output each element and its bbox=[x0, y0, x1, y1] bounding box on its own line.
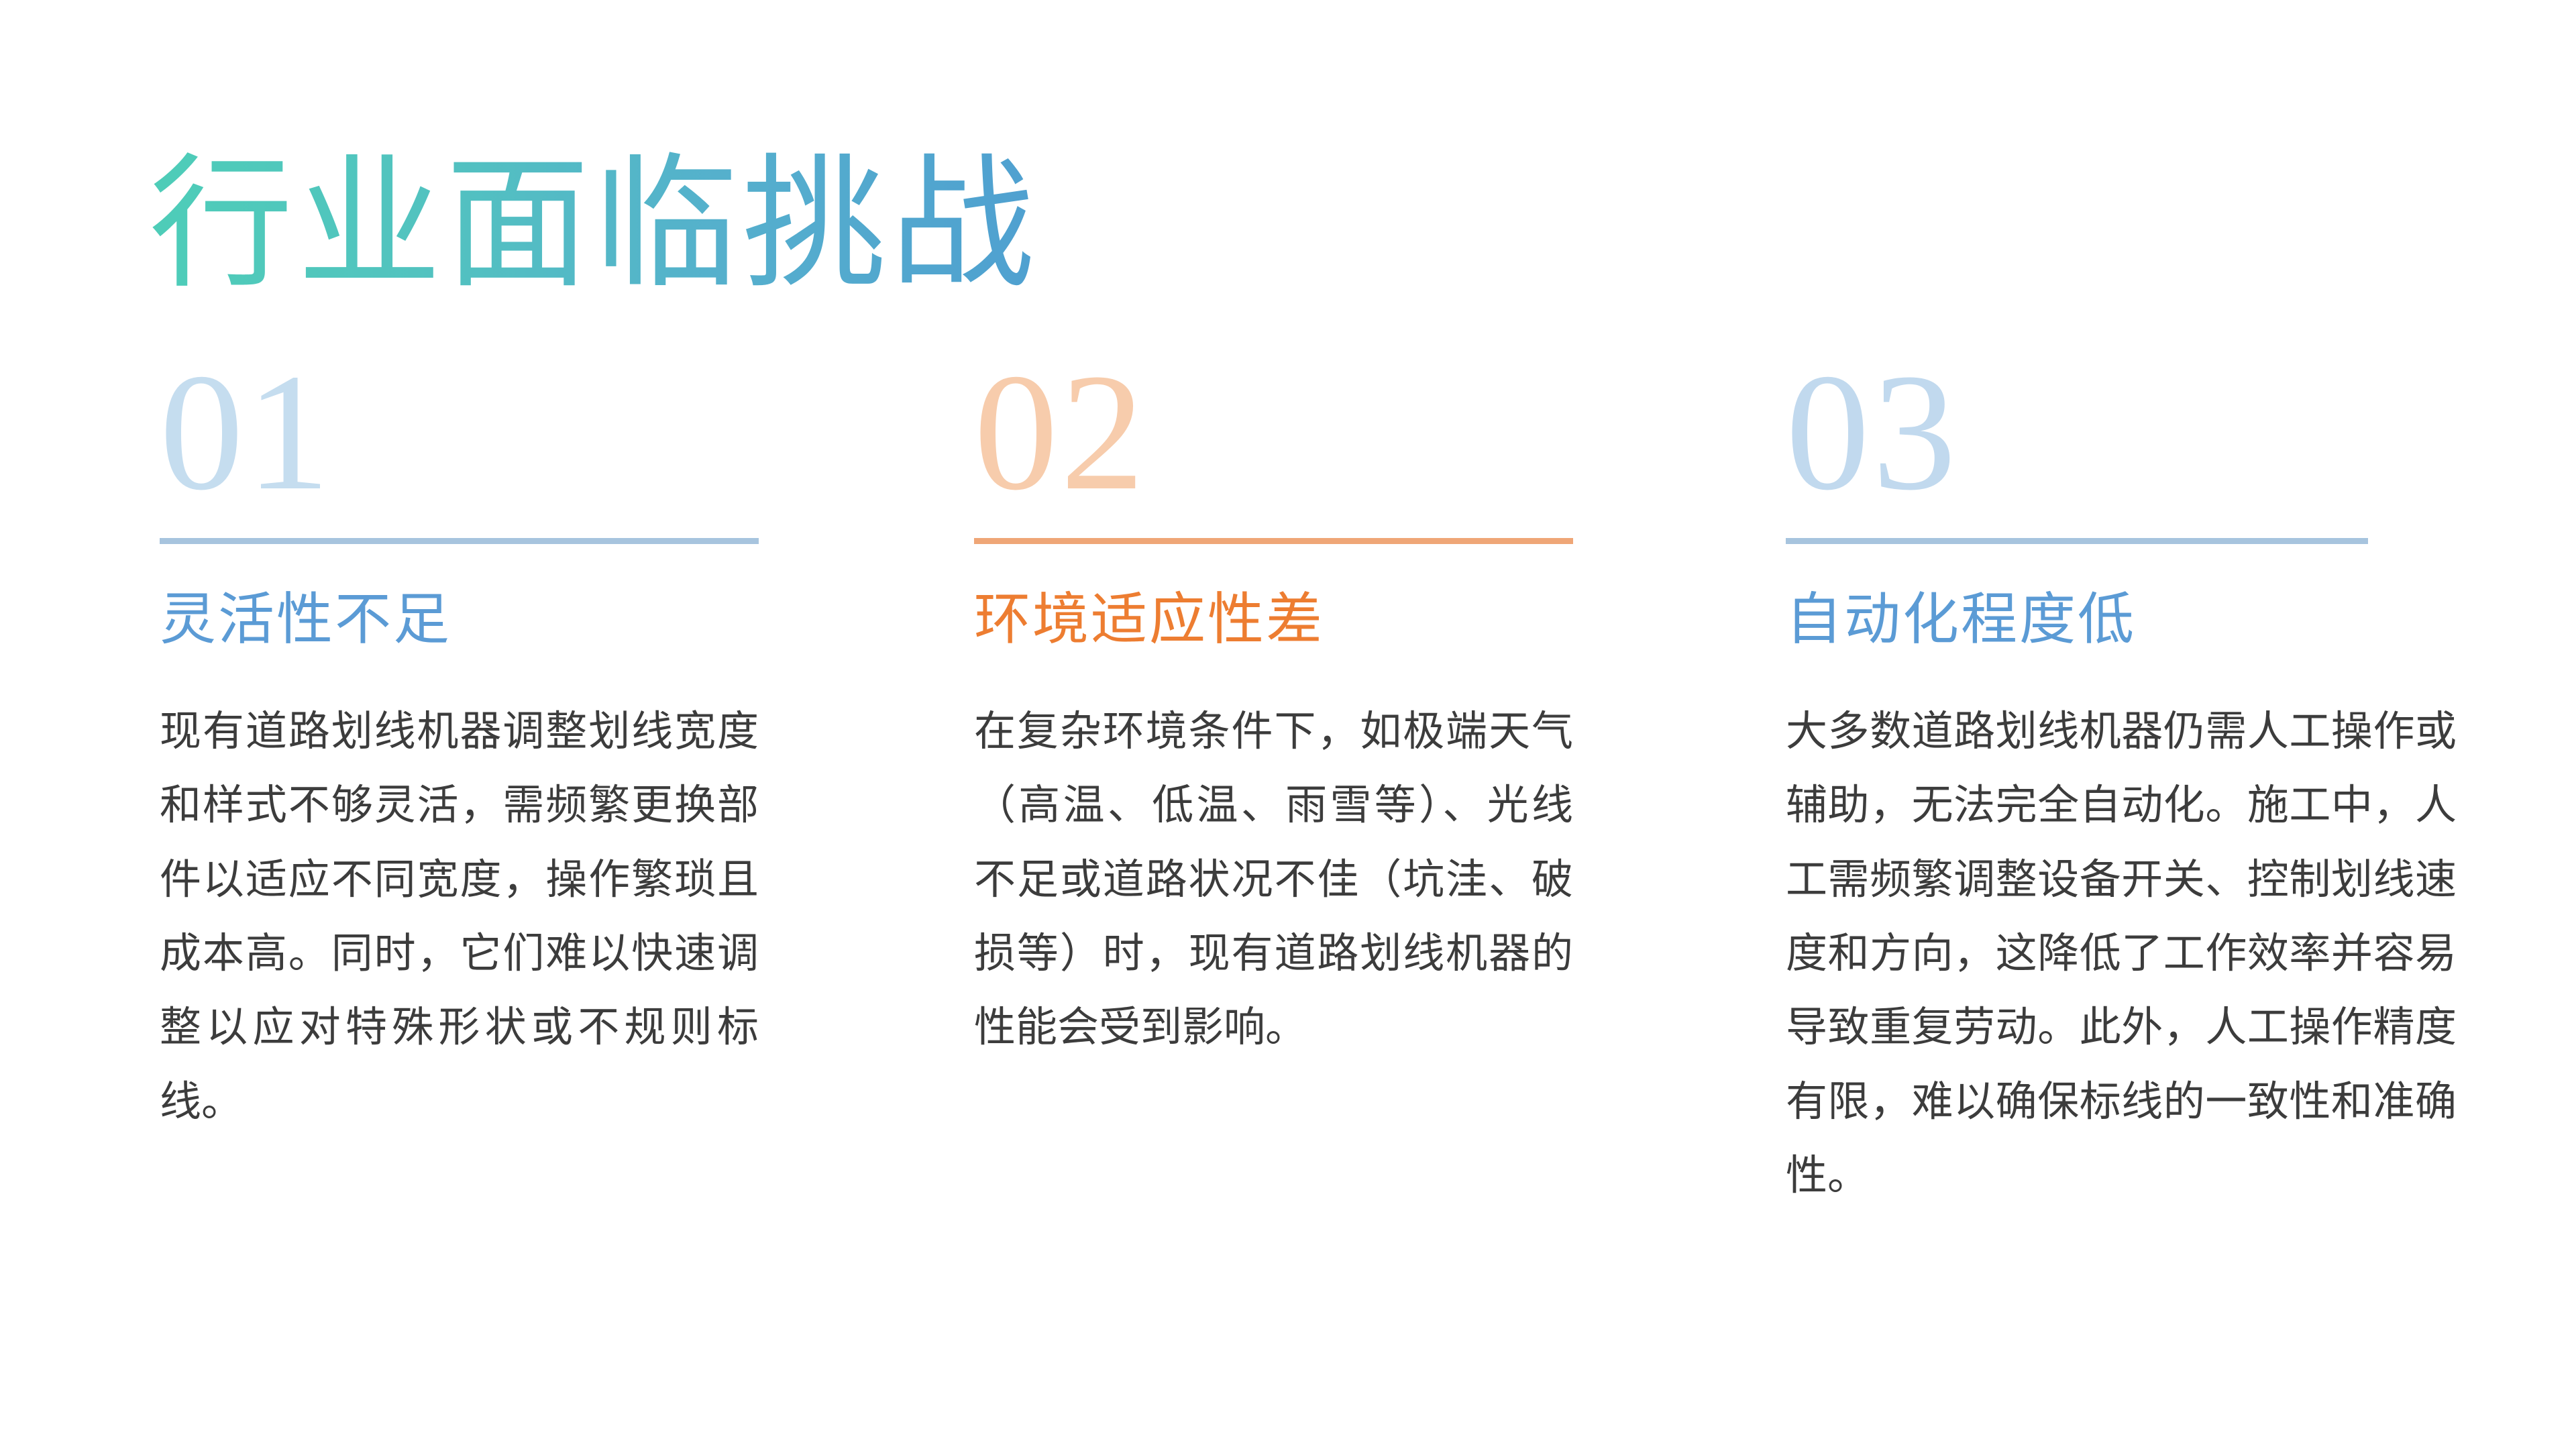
slide-root: 行业面临挑战 01 灵活性不足 现有道路划线机器调整划线宽度和样式不够灵活，需频… bbox=[0, 0, 2576, 1449]
challenge-divider-03 bbox=[1786, 538, 2368, 544]
challenge-heading-03: 自动化程度低 bbox=[1786, 586, 2457, 653]
challenge-number-02: 02 bbox=[974, 349, 1578, 522]
challenge-heading-02: 环境适应性差 bbox=[974, 586, 1578, 653]
challenge-number-03: 03 bbox=[1786, 349, 2457, 522]
challenge-heading-01: 灵活性不足 bbox=[160, 586, 763, 653]
challenge-body-03: 大多数道路划线机器仍需人工操作或辅助，无法完全自动化。施工中，人工需频繁调整设备… bbox=[1786, 695, 2457, 1214]
challenge-divider-01 bbox=[160, 538, 759, 544]
challenge-card-02: 02 环境适应性差 在复杂环境条件下，如极端天气（高温、低温、雨雪等）、光线不足… bbox=[974, 349, 1578, 1107]
challenge-card-01: 01 灵活性不足 现有道路划线机器调整划线宽度和样式不够灵活，需频繁更换部件以适… bbox=[160, 349, 763, 1181]
challenge-divider-02 bbox=[974, 538, 1573, 544]
challenge-number-01: 01 bbox=[160, 349, 763, 522]
challenge-columns: 01 灵活性不足 现有道路划线机器调整划线宽度和样式不够灵活，需频繁更换部件以适… bbox=[0, 0, 2576, 1449]
challenge-body-02: 在复杂环境条件下，如极端天气（高温、低温、雨雪等）、光线不足或道路状况不佳（坑洼… bbox=[974, 695, 1573, 1065]
challenge-card-03: 03 自动化程度低 大多数道路划线机器仍需人工操作或辅助，无法完全自动化。施工中… bbox=[1786, 349, 2457, 1254]
challenge-body-01: 现有道路划线机器调整划线宽度和样式不够灵活，需频繁更换部件以适应不同宽度，操作繁… bbox=[160, 695, 759, 1139]
